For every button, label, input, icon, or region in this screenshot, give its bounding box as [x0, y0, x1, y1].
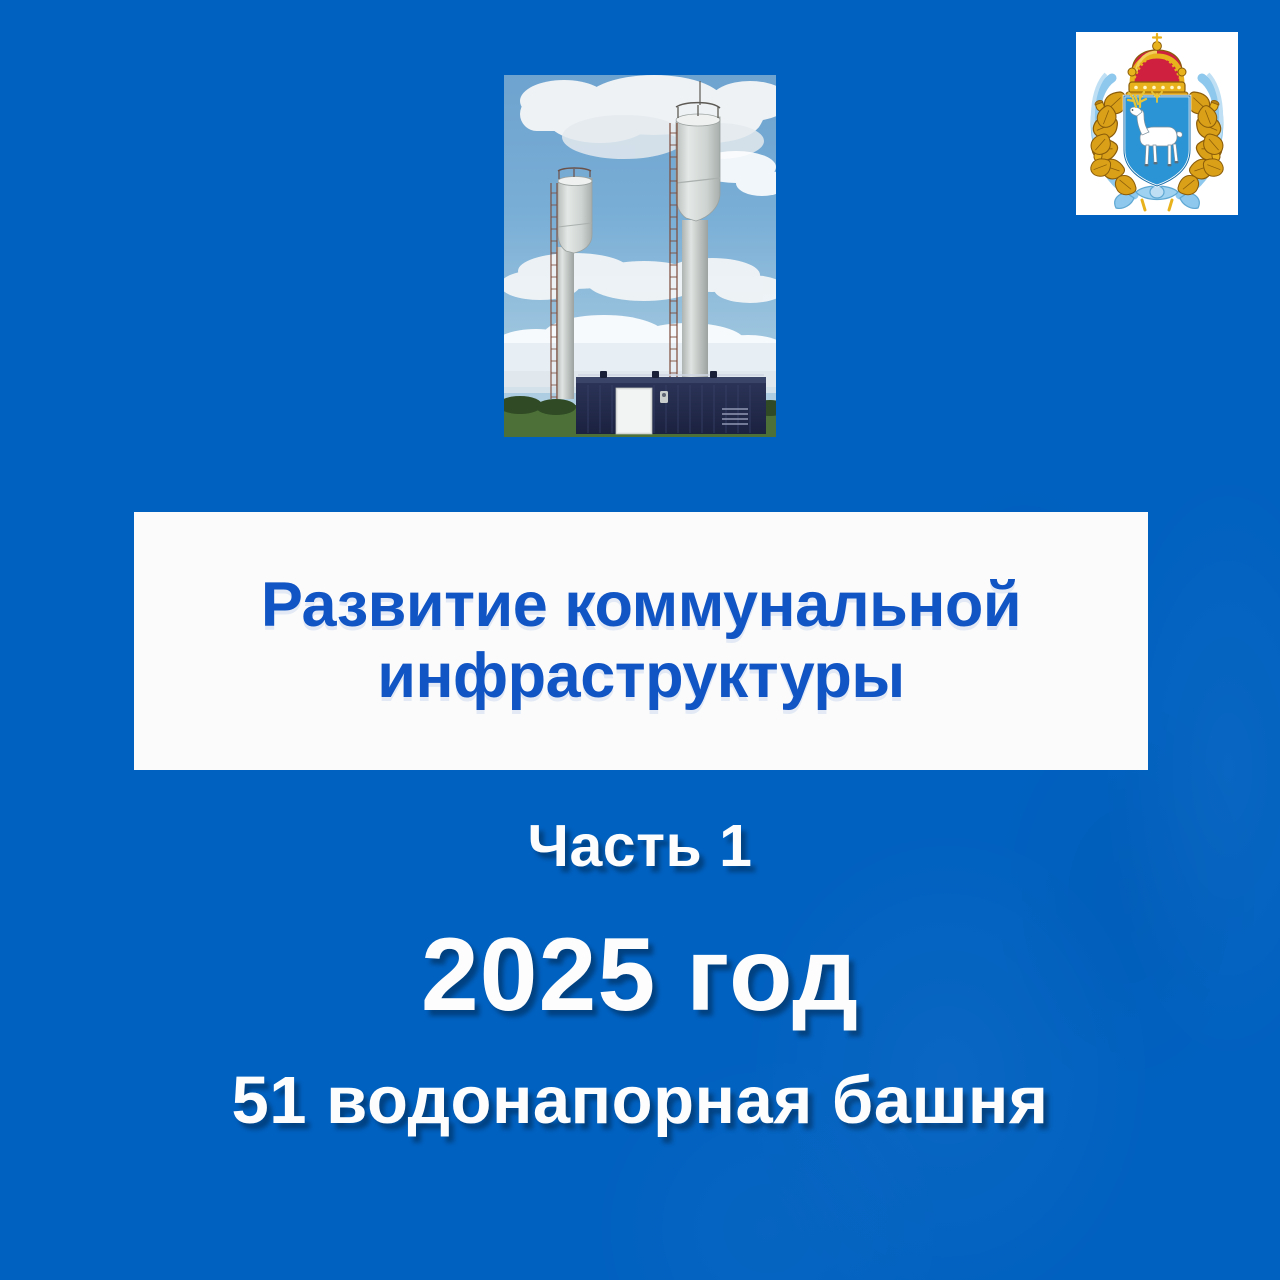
slide-root: Развитие коммунальной инфраструктуры Раз… — [0, 0, 1280, 1280]
coat-of-arms-samara-oblast — [1076, 32, 1238, 215]
shield — [1124, 92, 1190, 186]
container-building — [576, 371, 766, 434]
part-label: Часть 1 — [0, 812, 1280, 880]
water-towers-photo — [504, 75, 776, 437]
title-line-2: инфраструктуры — [377, 641, 904, 711]
title-line-1: Развитие коммунальной — [261, 570, 1021, 640]
page-title: Развитие коммунальной инфраструктуры — [134, 570, 1148, 711]
title-panel: Развитие коммунальной инфраструктуры Раз… — [134, 512, 1148, 770]
count-label: 51 водонапорная башня — [0, 1062, 1280, 1139]
year-label: 2025 год — [0, 916, 1280, 1035]
